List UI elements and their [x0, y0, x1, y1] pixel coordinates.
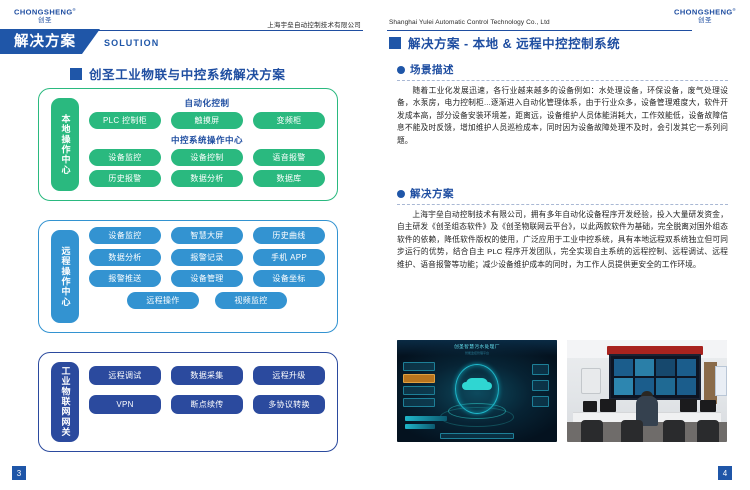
brand-logo: CHONGSHENG® 创圣 — [14, 8, 76, 24]
banner-title-en: SOLUTION — [104, 38, 159, 48]
brand-logo-cn: 创圣 — [38, 18, 52, 25]
pill-data-analysis[interactable]: 数据分析 — [171, 170, 243, 187]
pill-mobile-app[interactable]: 手机 APP — [253, 249, 325, 266]
section-heading-text: 场景描述 — [410, 62, 454, 77]
dashboard-card — [403, 362, 435, 371]
solution-banner: 解决方案 SOLUTION — [0, 29, 375, 54]
right-section-title-text: 解决方案 - 本地 & 远程中控控制系统 — [408, 33, 620, 52]
right-page-header: Shanghai Yulei Automatic Control Technol… — [375, 8, 750, 34]
pill-device-monitoring[interactable]: 设备监控 — [89, 149, 161, 166]
pill-alarm-record[interactable]: 报警记录 — [171, 249, 243, 266]
right-section-title: 解决方案 - 本地 & 远程中控控制系统 — [389, 33, 620, 52]
video-wall-grid — [614, 359, 696, 395]
panel-remote-operation-center: 远程操作中心 设备监控 智慧大屏 历史曲线 数据分析 报警记录 手机 APP 报… — [38, 220, 338, 333]
panel-iiot-gateway: 工业物联网网关 远程调试 数据采集 远程升级 VPN 断点续传 多协议转换 — [38, 352, 338, 452]
pill-row: 远程调试 数据采集 远程升级 — [89, 366, 325, 385]
bullet-dot-icon — [397, 190, 405, 198]
right-page: Shanghai Yulei Automatic Control Technol… — [375, 0, 750, 490]
bullet-dot-icon — [397, 66, 405, 74]
pill-device-control[interactable]: 设备控制 — [171, 149, 243, 166]
pill-database[interactable]: 数据库 — [253, 170, 325, 187]
pill-remote-debug[interactable]: 远程调试 — [89, 366, 161, 385]
dashboard-footer-bar — [440, 433, 514, 439]
section-solution: 解决方案 上海宇垒自动控制技术有限公司，拥有多年自动化设备程序开发经验，投入大量… — [397, 186, 728, 271]
office-chair — [581, 420, 603, 442]
square-bullet-icon — [389, 37, 401, 49]
section-scene-description: 场景描述 随着工业化发展迅速，各行业越来越多的设备例如：水处理设备，环保设备，废… — [397, 62, 728, 147]
page-number-left: 3 — [12, 466, 26, 480]
video-wall-cell — [677, 378, 696, 395]
pill-history-alarm[interactable]: 历史报警 — [89, 170, 161, 187]
video-wall-cell — [635, 359, 654, 376]
video-wall-cell — [656, 359, 675, 376]
registered-mark: ® — [73, 7, 76, 12]
dashboard-subtitle: 智能监控管理平台 — [397, 351, 557, 355]
video-wall-cell — [614, 378, 633, 395]
page-number-right: 4 — [718, 466, 732, 480]
panel-side-label: 工业物联网网关 — [51, 362, 79, 442]
section-body-text: 随着工业化发展迅速，各行业越来越多的设备例如：水处理设备，环保设备，废气处理设备… — [397, 85, 728, 147]
pill-breakpoint-resume[interactable]: 断点续传 — [171, 395, 243, 414]
group-heading-control-center: 中控系统操作中心 — [89, 134, 325, 146]
pill-video-monitoring[interactable]: 视频监控 — [215, 292, 287, 309]
video-wall-cell — [656, 378, 675, 395]
pill-voice-alarm[interactable]: 语音报警 — [253, 149, 325, 166]
header-rule — [387, 30, 692, 31]
section-header: 场景描述 — [397, 62, 728, 77]
brochure-spread: CHONGSHENG® 创圣 上海宇垒自动控制技术有限公司 解决方案 SOLUT… — [0, 0, 750, 490]
dashboard-bar — [405, 416, 447, 421]
brand-logo-wordmark: CHONGSHENG — [14, 8, 73, 17]
panel-body: 自动化控制 PLC 控制柜 触摸屏 变频柜 中控系统操作中心 设备监控 设备控制… — [89, 95, 325, 194]
dashboard-card — [403, 386, 435, 395]
section-divider — [397, 80, 728, 81]
panel-body: 远程调试 数据采集 远程升级 VPN 断点续传 多协议转换 — [89, 366, 325, 445]
section-divider — [397, 204, 728, 205]
dashboard-bar — [405, 424, 435, 429]
video-wall-cell — [614, 359, 633, 376]
office-chair — [697, 420, 719, 442]
monitor — [700, 400, 716, 412]
section-heading-text: 解决方案 — [410, 186, 454, 201]
panel-local-operation-center: 本地操作中心 自动化控制 PLC 控制柜 触摸屏 变频柜 中控系统操作中心 设备… — [38, 88, 338, 201]
pill-remote-upgrade[interactable]: 远程升级 — [253, 366, 325, 385]
square-bullet-icon — [70, 68, 82, 80]
pill-data-acquisition[interactable]: 数据采集 — [171, 366, 243, 385]
pill-remote-operation[interactable]: 远程操作 — [127, 292, 199, 309]
pill-device-coordinates[interactable]: 设备坐标 — [253, 270, 325, 287]
pill-row: 报警推送 设备管理 设备坐标 — [89, 270, 325, 287]
dashboard-card-highlight — [403, 374, 435, 383]
photo-gallery: 创圣智慧污水处理厂 智能监控管理平台 — [397, 340, 728, 442]
left-section-title: 创圣工业物联与中控系统解决方案 — [70, 64, 286, 83]
control-room-photo — [567, 340, 727, 442]
scada-dashboard-photo: 创圣智慧污水处理厂 智能监控管理平台 — [397, 340, 557, 442]
pill-history-curve[interactable]: 历史曲线 — [253, 227, 325, 244]
company-name-en: Shanghai Yulei Automatic Control Technol… — [389, 19, 550, 26]
pill-plc-cabinet[interactable]: PLC 控制柜 — [89, 112, 161, 129]
section-body-text: 上海宇垒自动控制技术有限公司，拥有多年自动化设备程序开发经验，投入大量研发资金，… — [397, 209, 728, 271]
brand-logo-wordmark: CHONGSHENG — [674, 8, 733, 17]
pill-inverter-cabinet[interactable]: 变频柜 — [253, 112, 325, 129]
monitor — [600, 399, 616, 412]
monitor — [583, 401, 597, 412]
pill-row: 历史报警 数据分析 数据库 — [89, 170, 325, 187]
pill-row: VPN 断点续传 多协议转换 — [89, 395, 325, 414]
office-chair — [663, 420, 685, 442]
dashboard-side-card — [532, 380, 549, 391]
air-conditioner — [581, 368, 601, 394]
pill-touch-screen[interactable]: 触摸屏 — [171, 112, 243, 129]
office-chair — [621, 420, 643, 442]
pill-device-management[interactable]: 设备管理 — [171, 270, 243, 287]
brand-logo-mark: CHONGSHENG® — [14, 8, 76, 16]
panel-side-label: 远程操作中心 — [51, 230, 79, 323]
dashboard-card — [403, 398, 435, 407]
video-wall-cell — [677, 359, 696, 376]
company-name-cn: 上海宇垒自动控制技术有限公司 — [267, 19, 361, 29]
brand-logo-cn: 创圣 — [698, 18, 712, 25]
pill-smart-big-screen[interactable]: 智慧大屏 — [171, 227, 243, 244]
pill-row: 数据分析 报警记录 手机 APP — [89, 249, 325, 266]
monitor — [680, 399, 697, 412]
pill-vpn[interactable]: VPN — [89, 395, 161, 414]
pill-data-analysis[interactable]: 数据分析 — [89, 249, 161, 266]
cloud-icon — [466, 378, 488, 390]
dashboard-title: 创圣智慧污水处理厂 — [397, 344, 557, 350]
pill-device-monitoring[interactable]: 设备监控 — [89, 227, 161, 244]
dashboard-side-card — [532, 364, 549, 375]
pill-row: 远程操作 视频监控 — [89, 292, 325, 309]
pill-multi-protocol-conversion[interactable]: 多协议转换 — [253, 395, 325, 414]
registered-mark: ® — [733, 7, 736, 12]
video-wall — [609, 354, 701, 400]
pill-alarm-push[interactable]: 报警推送 — [89, 270, 161, 287]
wall-poster — [715, 366, 727, 396]
section-header: 解决方案 — [397, 186, 728, 201]
pill-row: 设备监控 智慧大屏 历史曲线 — [89, 227, 325, 244]
banner-title-cn: 解决方案 — [14, 34, 76, 50]
panel-side-label: 本地操作中心 — [51, 98, 79, 191]
dashboard-side-card — [532, 396, 549, 407]
left-section-title-text: 创圣工业物联与中控系统解决方案 — [89, 64, 286, 83]
left-page: CHONGSHENG® 创圣 上海宇垒自动控制技术有限公司 解决方案 SOLUT… — [0, 0, 375, 490]
brand-logo-mark: CHONGSHENG® — [674, 8, 736, 16]
group-heading-automation: 自动化控制 — [89, 97, 325, 109]
pill-row: 设备监控 设备控制 语音报警 — [89, 149, 325, 166]
pill-row: PLC 控制柜 触摸屏 变频柜 — [89, 112, 325, 129]
brand-logo: CHONGSHENG® 创圣 — [674, 8, 736, 24]
panel-body: 设备监控 智慧大屏 历史曲线 数据分析 报警记录 手机 APP 报警推送 设备管… — [89, 227, 325, 326]
